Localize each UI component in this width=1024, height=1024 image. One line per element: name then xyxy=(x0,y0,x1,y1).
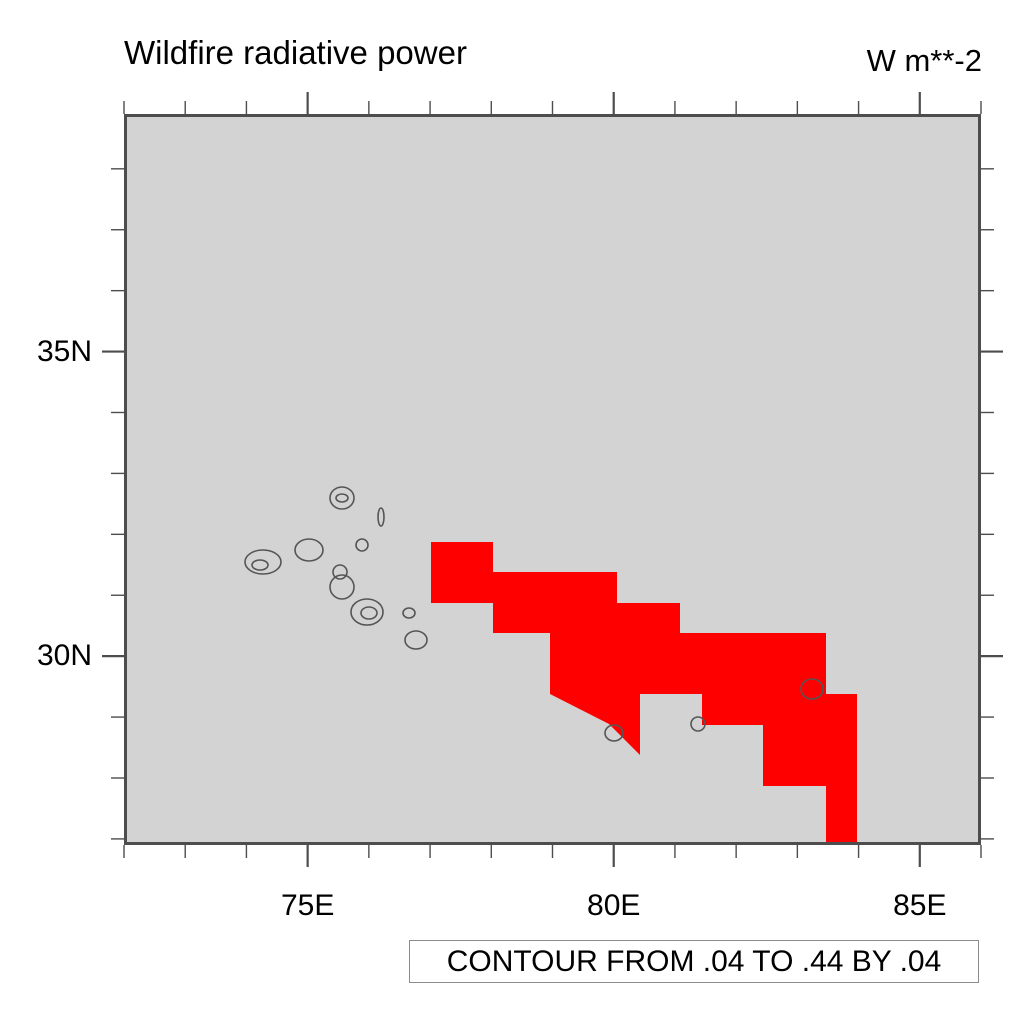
figure-header: Wildfire radiative power W m**-2 xyxy=(0,0,1024,100)
x-tick-label: 80E xyxy=(587,889,640,923)
ring-1 xyxy=(330,487,354,509)
x-tick-label: 85E xyxy=(893,889,946,923)
ring-4 xyxy=(356,539,368,551)
ring-1-inner xyxy=(336,494,348,502)
ring-3 xyxy=(295,539,323,561)
y-tick-label: 30N xyxy=(14,639,92,673)
ring-9 xyxy=(405,631,427,649)
x-tick-label: 75E xyxy=(281,889,334,923)
page-title: Wildfire radiative power xyxy=(124,33,467,73)
ring-7-inner xyxy=(361,607,377,619)
figure-canvas: Wildfire radiative power W m**-2 30N35N7… xyxy=(0,0,1024,1024)
units-label: W m**-2 xyxy=(867,42,982,80)
contour-caption-box: CONTOUR FROM .04 TO .44 BY .04 xyxy=(409,940,979,983)
ring-8 xyxy=(403,608,415,618)
ring-7 xyxy=(351,599,383,625)
ring-2-inner xyxy=(252,560,268,570)
map-data-layer xyxy=(124,114,981,845)
y-tick-label: 35N xyxy=(14,335,92,369)
filled-region-high xyxy=(431,542,857,845)
ring-10 xyxy=(378,508,384,526)
map-plot-area xyxy=(124,114,981,845)
